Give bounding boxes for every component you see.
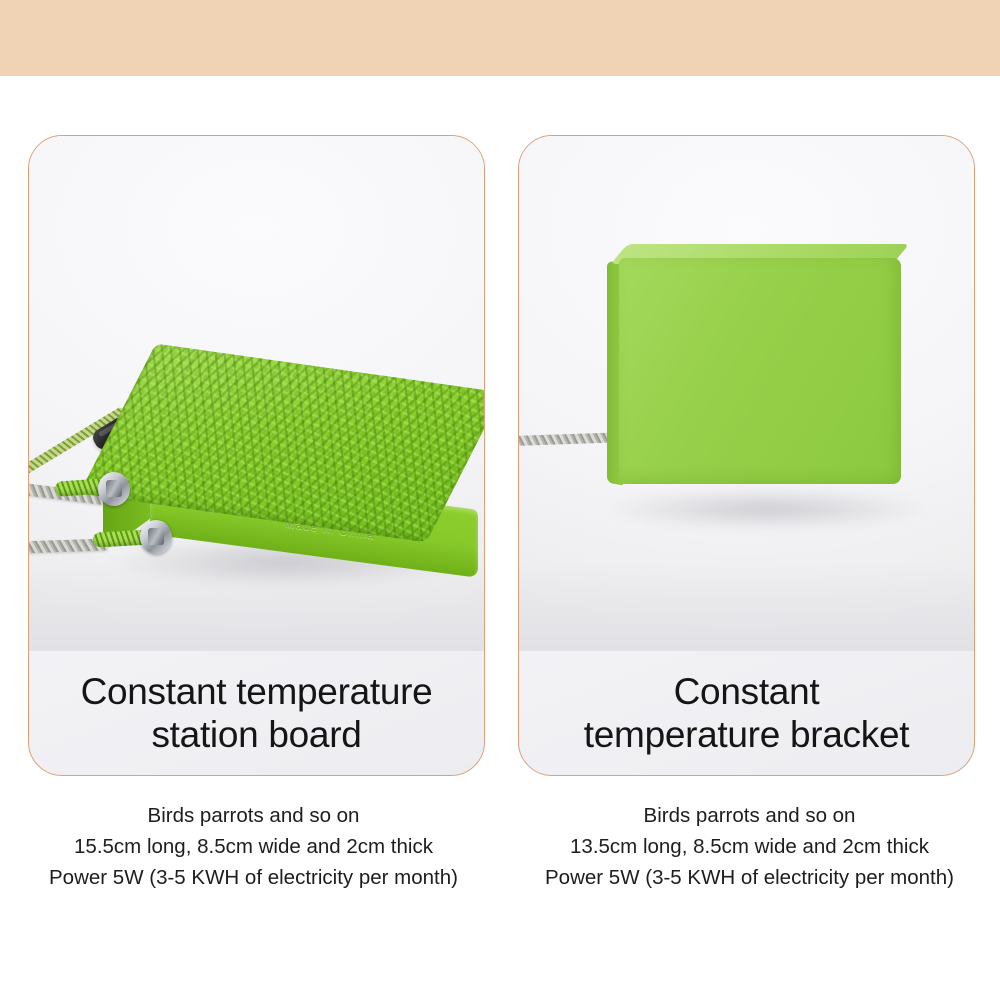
spec-audience: Birds parrots and so on: [6, 800, 501, 831]
top-color-band: [0, 0, 1000, 76]
caption-line-2: station board: [43, 713, 470, 757]
heating-board-product: Made In China: [47, 368, 484, 618]
product-photo-bracket: [519, 136, 974, 651]
spec-dimensions: 13.5cm long, 8.5cm wide and 2cm thick: [502, 831, 997, 862]
specs-station-board: Birds parrots and so on 15.5cm long, 8.5…: [6, 800, 501, 893]
heating-bracket-product: [555, 236, 974, 576]
wing-nut-terminal-icon: [133, 516, 179, 560]
specs-bracket: Birds parrots and so on 13.5cm long, 8.5…: [502, 800, 997, 893]
card-caption-station-board: Constant temperature station board: [43, 670, 470, 757]
product-photo-station-board: Made In China: [29, 136, 484, 651]
product-card-bracket[interactable]: Constant temperature bracket: [518, 135, 975, 776]
spec-power: Power 5W (3-5 KWH of electricity per mon…: [502, 862, 997, 893]
spec-dimensions: 15.5cm long, 8.5cm wide and 2cm thick: [6, 831, 501, 862]
card-inner-left: Made In China Constant temperature stati…: [29, 136, 484, 775]
product-card-station-board[interactable]: Made In China Constant temperature stati…: [28, 135, 485, 776]
caption-line-1: Constant temperature: [43, 670, 470, 714]
caption-line-2: temperature bracket: [533, 713, 960, 757]
caption-line-1: Constant: [533, 670, 960, 714]
card-caption-bracket: Constant temperature bracket: [533, 670, 960, 757]
product-card-row: Made In China Constant temperature stati…: [0, 76, 1000, 776]
slab-front-face: [619, 258, 901, 484]
spec-power: Power 5W (3-5 KWH of electricity per mon…: [6, 862, 501, 893]
wing-nut-terminal-icon: [91, 468, 137, 512]
slab-drop-shadow: [607, 488, 927, 530]
card-inner-right: Constant temperature bracket: [519, 136, 974, 775]
spec-audience: Birds parrots and so on: [502, 800, 997, 831]
